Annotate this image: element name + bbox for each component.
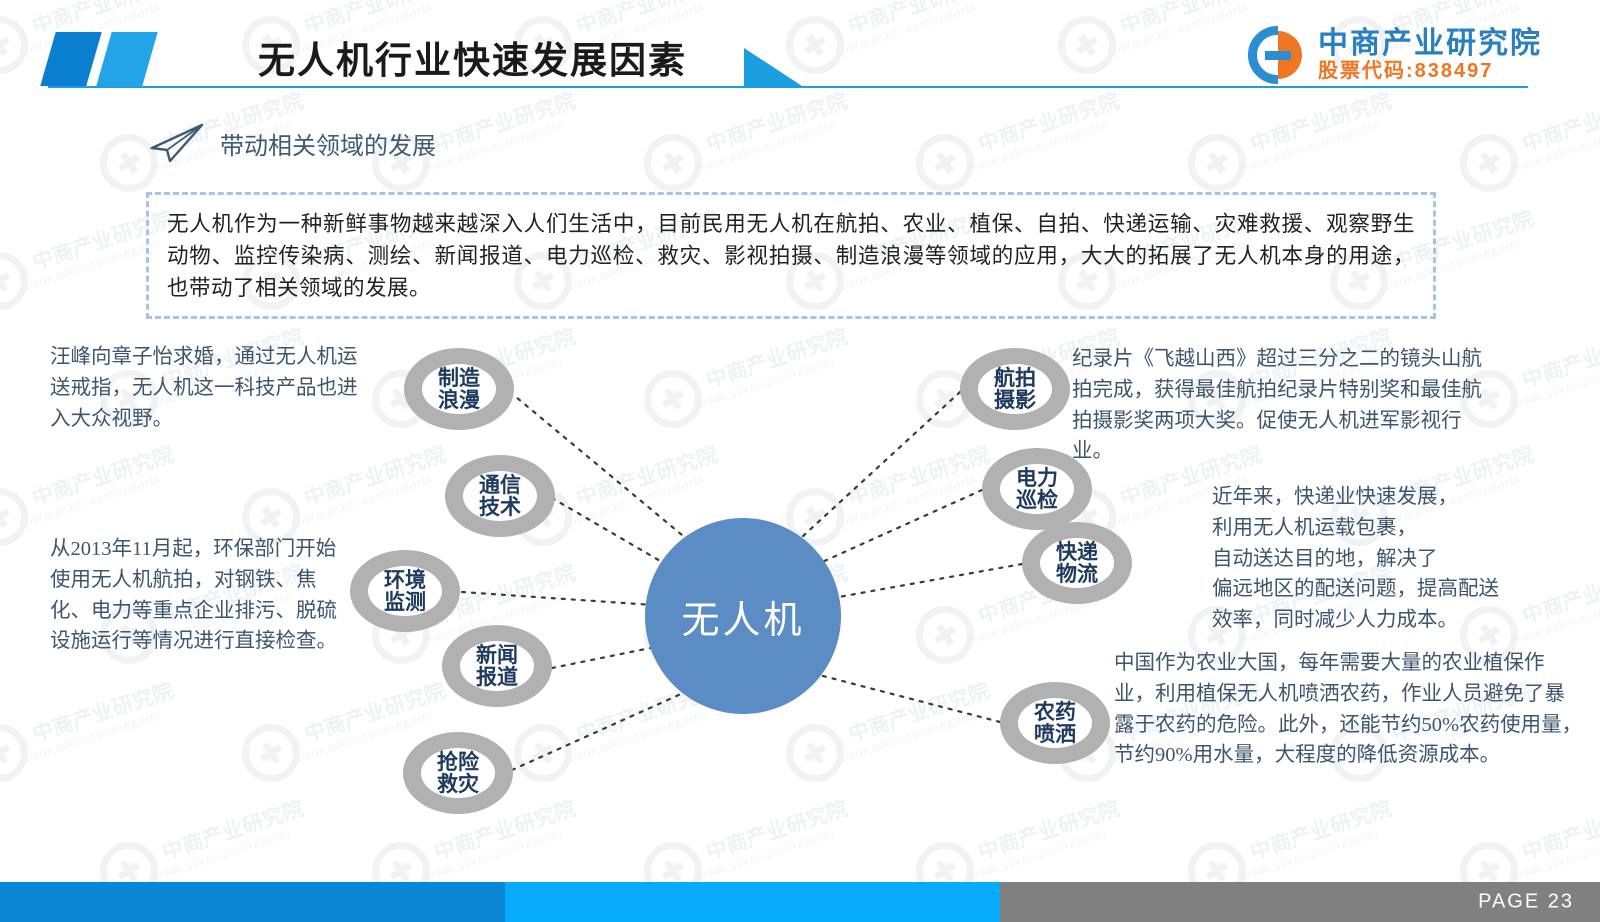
annotation-right-middle: 近年来，快递业快速发展， 利用无人机运载包裹， 自动送达目的地，解决了 偏远地区…	[1212, 482, 1600, 636]
diagram-node-communication-tech: 通信 技术	[445, 455, 555, 537]
header-triangle-icon	[744, 48, 802, 86]
intro-paragraph: 无人机作为一种新鲜事物越来越深入人们生活中，目前民用无人机在航拍、农业、植保、自…	[167, 209, 1415, 304]
diagram-node-environment-monitor: 环境 监测	[350, 550, 460, 632]
watermark-logo-icon	[916, 134, 974, 192]
subtitle-label: 带动相关领域的发展	[220, 126, 436, 161]
annotation-left-bottom: 从2013年11月起，环保部门开始使用无人机航拍，对钢铁、焦化、电力等重点企业排…	[50, 534, 350, 657]
diagram-node-label: 快递 物流	[1056, 541, 1098, 585]
diagram-node-label: 农药 喷洒	[1034, 701, 1076, 745]
diagram-node-news-report: 新闻 报道	[442, 625, 552, 707]
watermark-url: www.askci.com/reports	[1240, 118, 1381, 176]
diagram-node-express-logistics: 快递 物流	[1022, 522, 1132, 604]
watermark-url: www.askci.com/reports	[22, 236, 163, 294]
diagram-node-label: 航拍 摄影	[994, 367, 1036, 411]
slide-header: 无人机行业快速发展因素 中商产业研究院 股票代码:838497	[0, 0, 1600, 112]
diagram-node-label: 新闻 报道	[476, 644, 518, 688]
footer-band-gray: PAGE 23	[1000, 882, 1600, 922]
watermark-url: www.askci.com/reports	[1512, 118, 1600, 176]
logo-company-name: 中商产业研究院	[1318, 29, 1542, 59]
watermark-logo-icon	[1188, 134, 1246, 192]
annotation-left-top: 汪峰向章子怡求婚，通过无人机运送戒指，无人机这一科技产品也进入大众视野。	[50, 342, 370, 434]
watermark-logo-icon	[1460, 134, 1518, 192]
header-accent-bar-light	[96, 32, 157, 86]
section-subtitle: 带动相关领域的发展	[148, 122, 436, 164]
watermark-url: www.askci.com/reports	[968, 118, 1109, 176]
company-logo: 中商产业研究院 股票代码:838497	[1248, 22, 1542, 88]
diagram-node-manufacture-romance: 制造 浪漫	[404, 348, 514, 430]
diagram-node-label: 制造 浪漫	[438, 367, 480, 411]
diagram-node-aerial-photography: 航拍 摄影	[960, 348, 1070, 430]
footer-band-secondary	[505, 882, 1000, 922]
annotation-right-top: 纪录片《飞越山西》超过三分之二的镜头山航拍完成，获得最佳航拍纪录片特别奖和最佳航…	[1072, 344, 1502, 467]
watermark-url: www.askci.com/reports	[424, 118, 565, 176]
diagram-node-pesticide-spray: 农药 喷洒	[1000, 682, 1110, 764]
diagram-node-label: 抢险 救灾	[437, 751, 479, 795]
watermark-tile: 中商产业研究院www.askci.com/reports	[1460, 126, 1600, 212]
intro-callout-box: 无人机作为一种新鲜事物越来越深入人们生活中，目前民用无人机在航拍、农业、植保、自…	[146, 192, 1436, 319]
diagram-node-label: 环境 监测	[384, 569, 426, 613]
logo-stock-code: 股票代码:838497	[1318, 61, 1542, 81]
paper-plane-icon	[148, 122, 206, 164]
watermark-url: www.askci.com/reports	[696, 118, 837, 176]
slide-footer: PAGE 23	[0, 882, 1600, 922]
page-title: 无人机行业快速发展因素	[258, 30, 687, 84]
diagram-node-label: 通信 技术	[479, 474, 521, 518]
slide-page: 中商产业研究院www.askci.com/reports中商产业研究院www.a…	[0, 0, 1600, 922]
annotation-right-bottom: 中国作为农业大国，每年需要大量的农业植保作业，利用植保无人机喷洒农药，作业人员避…	[1114, 648, 1584, 771]
logo-mark-icon	[1248, 26, 1306, 84]
diagram-hub-node: 无人机	[645, 518, 841, 714]
diagram-node-label: 电力 巡检	[1016, 467, 1058, 511]
header-accent-bar-dark	[40, 32, 101, 86]
page-number: PAGE 23	[1478, 891, 1574, 914]
diagram-node-rescue-relief: 抢险 救灾	[403, 732, 513, 814]
footer-band-primary	[0, 882, 505, 922]
watermark-logo-icon	[644, 134, 702, 192]
